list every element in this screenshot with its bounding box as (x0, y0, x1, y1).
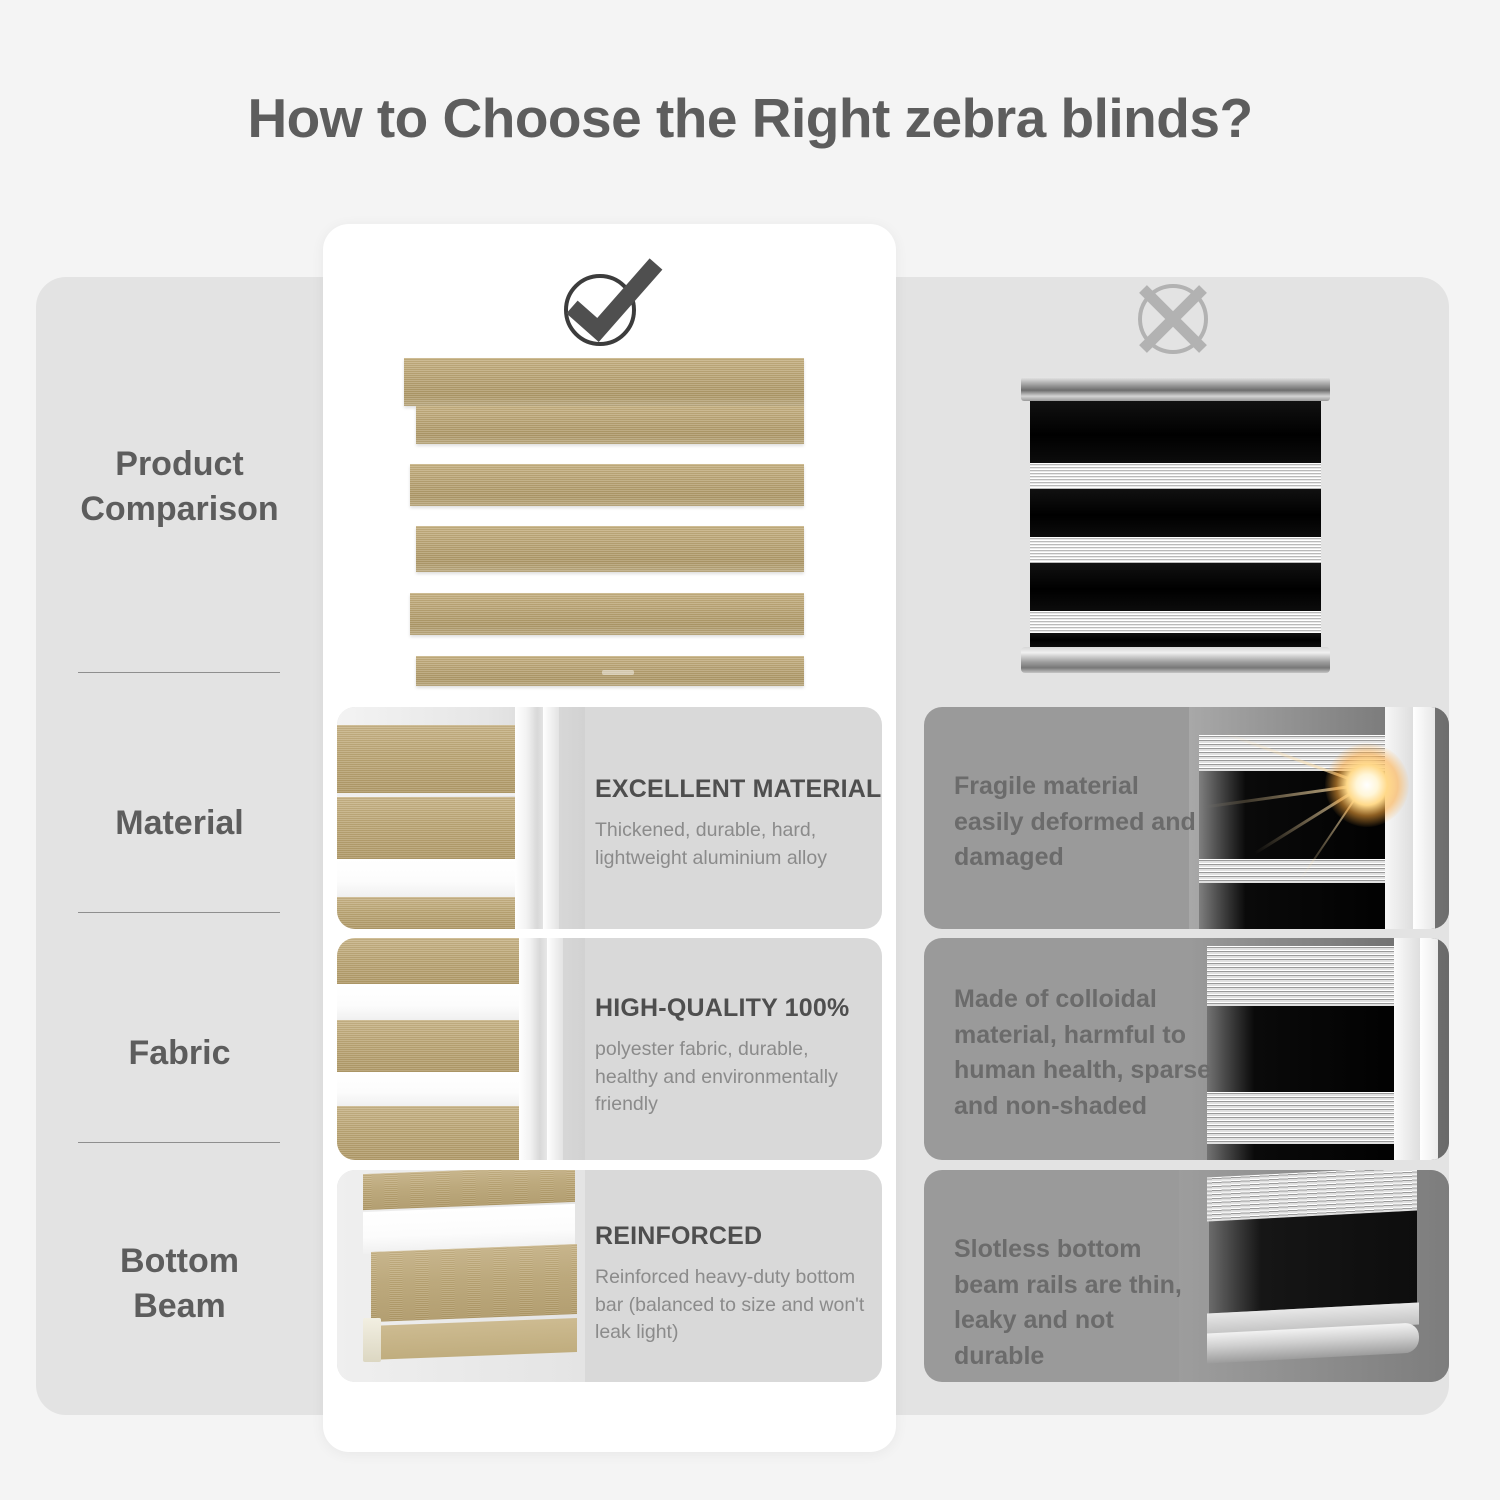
band-dark-2 (1030, 489, 1321, 537)
infographic-root: How to Choose the Right zebra blinds? Pr… (0, 0, 1500, 1500)
fabric-bad-text: Made of colloidal material, harmful to h… (954, 938, 1214, 1160)
material-good-text: EXCELLENT MATERIAL Thickened, durable, h… (595, 707, 870, 929)
material-good-body: Thickened, durable, hard, lightweight al… (595, 817, 870, 872)
feature-card-material-bad: Fragile material easily deformed and dam… (924, 707, 1449, 929)
row-label-product-comparison: Product Comparison (36, 442, 323, 532)
band-sheer-1 (1030, 463, 1321, 489)
feature-card-fabric-bad: Made of colloidal material, harmful to h… (924, 938, 1449, 1160)
bottom-beam-bad-photo (1179, 1170, 1449, 1382)
fabric-bad-photo (1189, 938, 1449, 1160)
band-dark-3 (1030, 563, 1321, 611)
row-label-line-1: Bottom (120, 1242, 239, 1280)
feature-card-material-good: EXCELLENT MATERIAL Thickened, durable, h… (337, 707, 882, 929)
band-sheer-3 (1030, 611, 1321, 633)
slat-2 (410, 464, 804, 506)
head-rail (1021, 377, 1330, 401)
row-label-bottom-beam: Bottom Beam (36, 1239, 323, 1329)
bottom-beam-good-text: REINFORCED Reinforced heavy-duty bottom … (595, 1170, 873, 1382)
check-circle-icon (552, 258, 670, 350)
row-label-line-2: Beam (133, 1287, 226, 1325)
material-good-photo (337, 707, 585, 929)
hero-good-product-image (404, 358, 816, 703)
row-label-column: Product Comparison Material Fabric Botto… (36, 277, 323, 1415)
band-dark-1 (1030, 401, 1321, 463)
slat-4 (410, 593, 804, 635)
row-label-line-1: Product (115, 445, 243, 483)
band-dark-4 (1030, 633, 1321, 647)
row-divider-1 (78, 672, 280, 673)
bottom-bar (416, 656, 804, 686)
bottom-beam-bad-label: Slotless bottom beam rails are thin, lea… (954, 1232, 1204, 1374)
bottom-beam-bad-text: Slotless bottom beam rails are thin, lea… (954, 1170, 1204, 1382)
fabric-good-photo (337, 938, 585, 1160)
bottom-beam-good-heading: REINFORCED (595, 1222, 873, 1251)
fabric-bad-label: Made of colloidal material, harmful to h… (954, 982, 1214, 1124)
row-label-fabric: Fabric (36, 1031, 323, 1076)
feature-card-fabric-good: HIGH-QUALITY 100% polyester fabric, dura… (337, 938, 882, 1160)
bottom-rail (1021, 647, 1330, 673)
material-bad-photo (1189, 707, 1449, 929)
bottom-beam-good-photo (337, 1170, 585, 1382)
row-label-material: Material (36, 801, 323, 846)
hero-bad-product-image (1013, 377, 1338, 673)
row-divider-3 (78, 1142, 280, 1143)
row-label-line-2: Comparison (80, 490, 278, 528)
row-divider-2 (78, 912, 280, 913)
band-sheer-2 (1030, 537, 1321, 563)
feature-card-bottom-beam-good: REINFORCED Reinforced heavy-duty bottom … (337, 1170, 882, 1382)
page-title: How to Choose the Right zebra blinds? (0, 86, 1500, 150)
fabric-good-text: HIGH-QUALITY 100% polyester fabric, dura… (595, 938, 870, 1160)
fabric-good-heading: HIGH-QUALITY 100% (595, 994, 870, 1023)
slat-3 (416, 526, 804, 572)
material-good-heading: EXCELLENT MATERIAL (595, 775, 870, 804)
material-bad-text: Fragile material easily deformed and dam… (954, 707, 1204, 929)
fabric-good-body: polyester fabric, durable, healthy and e… (595, 1036, 870, 1119)
material-bad-label: Fragile material easily deformed and dam… (954, 769, 1204, 876)
bottom-beam-good-body: Reinforced heavy-duty bottom bar (balanc… (595, 1264, 873, 1347)
feature-card-bottom-beam-bad: Slotless bottom beam rails are thin, lea… (924, 1170, 1449, 1382)
valance-bar (404, 358, 804, 406)
slat-top (416, 406, 804, 444)
cross-circle-icon (1125, 278, 1221, 360)
